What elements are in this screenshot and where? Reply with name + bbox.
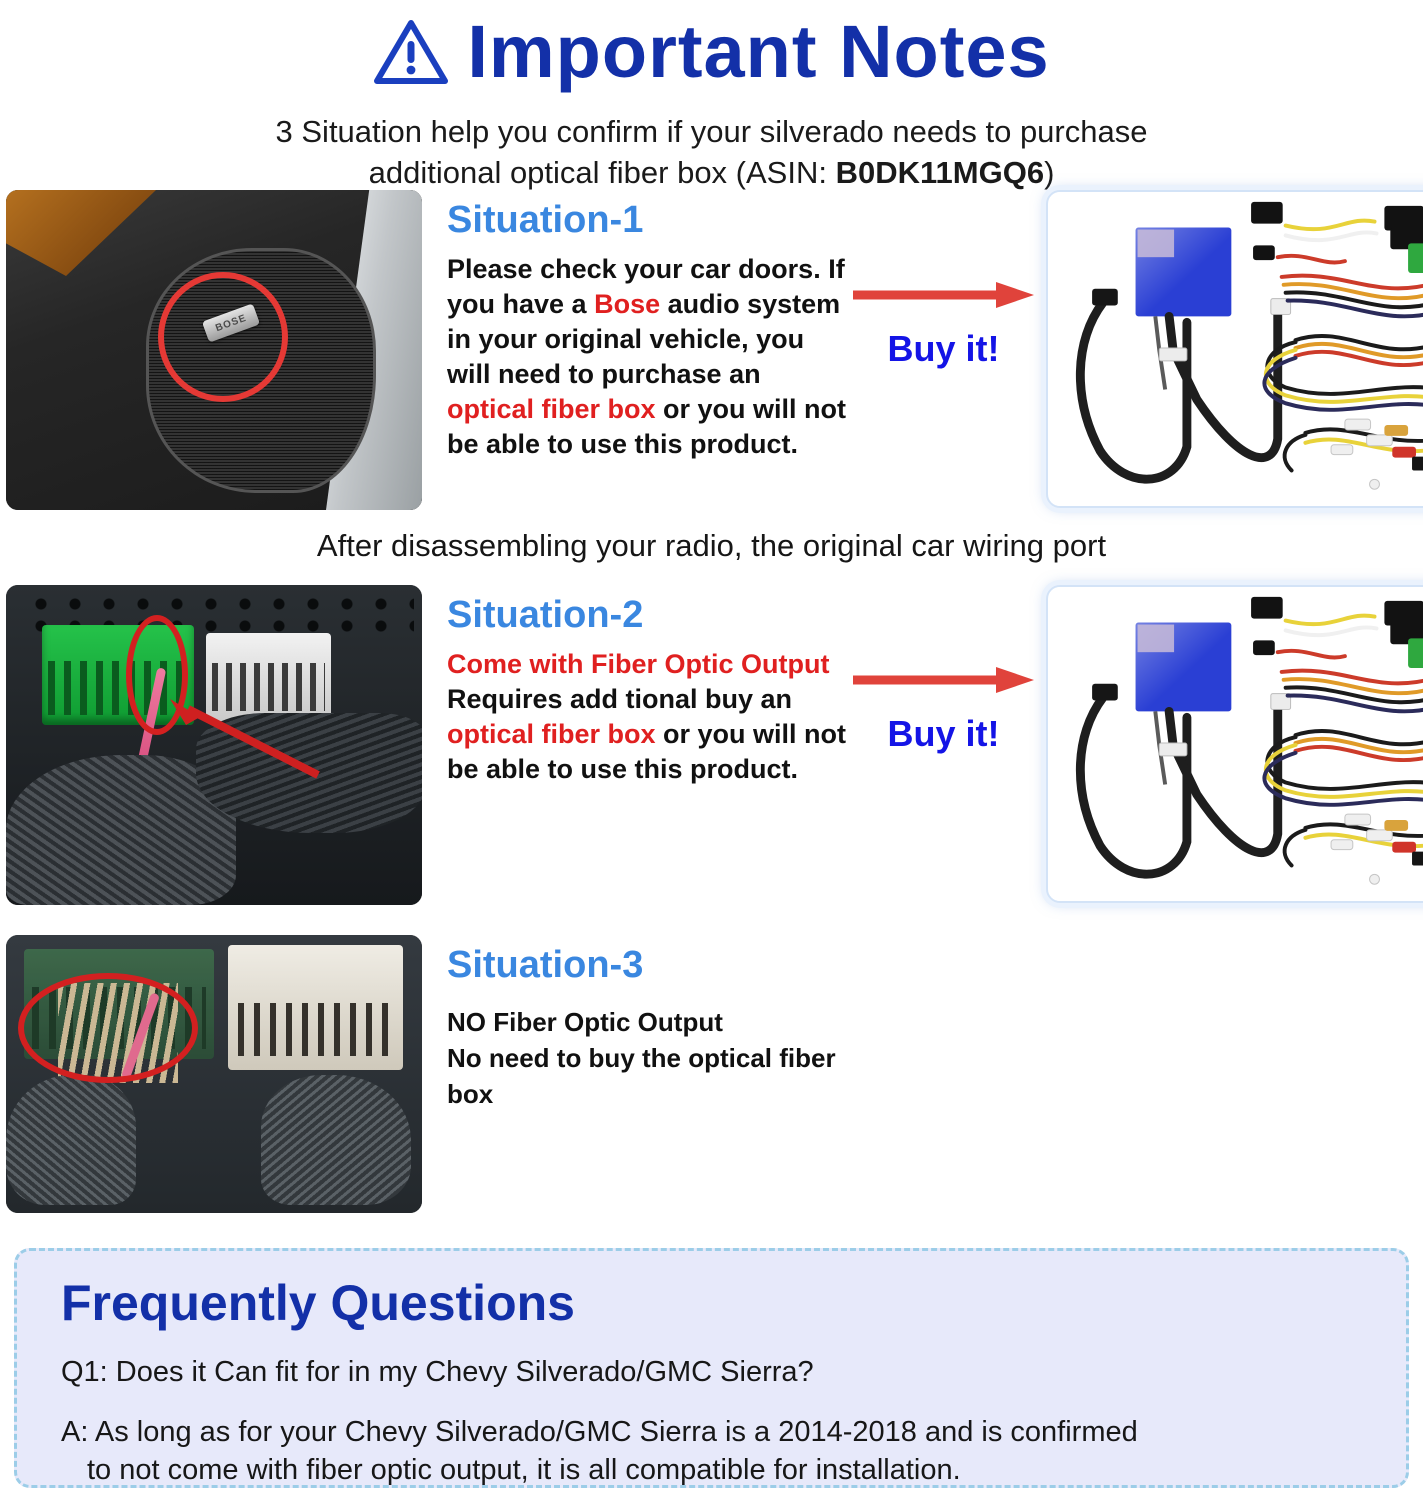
red-highlight-circle bbox=[158, 272, 288, 402]
situation-1-cta-block: Buy it! bbox=[851, 190, 1036, 370]
page-header: Important Notes 3 Situation help you con… bbox=[0, 0, 1423, 194]
faq-answer: A: As long as for your Chevy Silverado/G… bbox=[61, 1413, 1366, 1491]
subtitle-asin-separator: : bbox=[818, 155, 835, 190]
asin-code: B0DK11MGQ6 bbox=[836, 155, 1044, 190]
situation-2-product-image bbox=[1046, 585, 1423, 903]
faq-panel: Frequently Questions Q1: Does it Can fit… bbox=[14, 1248, 1409, 1488]
faq-answer-line-2: to not come with fiber optic output, it … bbox=[61, 1451, 1366, 1490]
faq-title: Frequently Questions bbox=[61, 1277, 1366, 1330]
situation-2-text: Situation-2 Come with Fiber Optic Output… bbox=[447, 585, 847, 787]
situation-1-buy-label: Buy it! bbox=[851, 328, 1036, 370]
situation-1-body: Please check your car doors. If you have… bbox=[447, 252, 847, 463]
mid-caption: After disassembling your radio, the orig… bbox=[0, 528, 1423, 564]
situation-2-buy-label: Buy it! bbox=[851, 713, 1036, 755]
red-pointer-arrow-icon bbox=[166, 695, 326, 785]
harness-illustration bbox=[1048, 587, 1423, 901]
highlighted-text: Come with Fiber Optic Output bbox=[447, 649, 829, 679]
wire-loom-left bbox=[6, 1075, 136, 1205]
situation-3-body-line-2: No need to buy the optical fiber box bbox=[447, 1041, 847, 1113]
situation-3-title: Situation-3 bbox=[447, 945, 847, 987]
subtitle-asin-suffix: ) bbox=[1044, 155, 1054, 190]
warning-triangle-icon bbox=[373, 17, 449, 87]
subtitle-line-2: additional optical fiber box (ASIN: B0DK… bbox=[210, 153, 1213, 194]
situation-2-row: Situation-2 Come with Fiber Optic Output… bbox=[6, 585, 1423, 905]
situation-2-body: Come with Fiber Optic Output Requires ad… bbox=[447, 647, 847, 787]
situation-1-product-image bbox=[1046, 190, 1423, 508]
body-text: Requires add tional buy an bbox=[447, 684, 792, 714]
faq-answer-line-1: A: As long as for your Chevy Silverado/G… bbox=[61, 1416, 1138, 1448]
highlighted-text: optical fiber box bbox=[447, 719, 656, 749]
situation-3-photo bbox=[6, 935, 422, 1213]
situation-1-photo bbox=[6, 190, 422, 510]
situation-2-photo bbox=[6, 585, 422, 905]
red-highlight-ellipse bbox=[18, 973, 198, 1083]
title-row: Important Notes bbox=[0, 6, 1423, 98]
subtitle-asin-prefix: additional optical fiber box (ASIN bbox=[369, 155, 819, 190]
faq-question: Q1: Does it Can fit for in my Chevy Silv… bbox=[61, 1356, 1366, 1389]
situation-2-cta-block: Buy it! bbox=[851, 585, 1036, 755]
page-subtitle: 3 Situation help you confirm if your sil… bbox=[0, 112, 1423, 194]
page-title: Important Notes bbox=[467, 15, 1049, 89]
situation-1-title: Situation-1 bbox=[447, 200, 847, 242]
situation-2-title: Situation-2 bbox=[447, 595, 847, 637]
situation-1-row: Situation-1 Please check your car doors.… bbox=[6, 190, 1423, 510]
red-arrow-icon bbox=[851, 280, 1036, 310]
situation-3-text: Situation-3 NO Fiber Optic Output No nee… bbox=[447, 935, 847, 1112]
wire-loom-right bbox=[261, 1075, 411, 1205]
harness-illustration bbox=[1048, 192, 1423, 506]
highlighted-text: optical fiber box bbox=[447, 394, 656, 424]
subtitle-line-1: 3 Situation help you confirm if your sil… bbox=[210, 112, 1213, 153]
white-connector bbox=[228, 945, 403, 1070]
red-arrow-icon bbox=[851, 665, 1036, 695]
situation-3-row: Situation-3 NO Fiber Optic Output No nee… bbox=[6, 935, 847, 1213]
situation-3-body-line-1: NO Fiber Optic Output bbox=[447, 1005, 847, 1041]
highlighted-text: Bose bbox=[594, 289, 660, 319]
situation-1-text: Situation-1 Please check your car doors.… bbox=[447, 190, 847, 462]
